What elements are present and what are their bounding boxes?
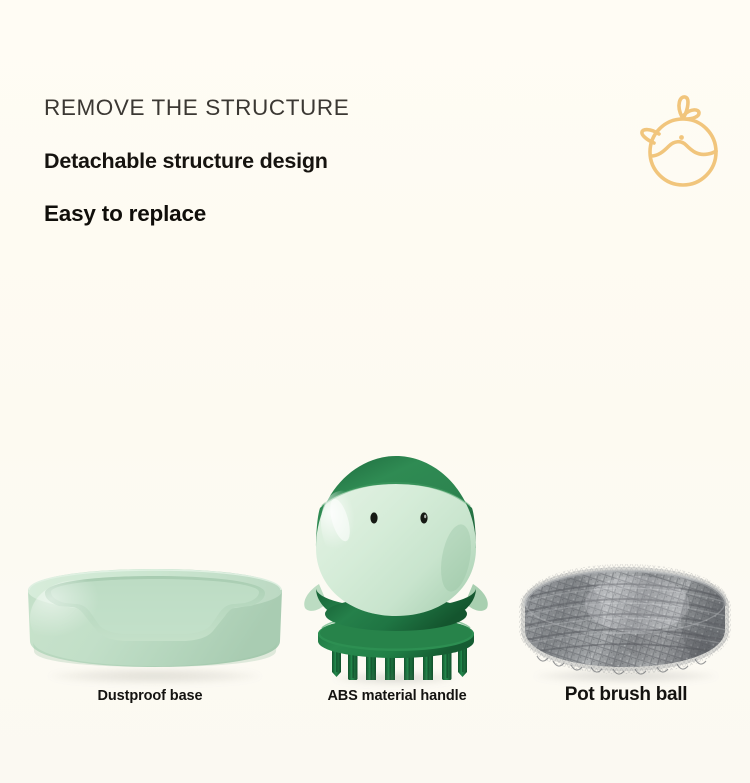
handle-drop-shadow [334, 672, 458, 685]
eye-right [420, 512, 427, 523]
product-dustproof-base [23, 555, 287, 680]
mint-bowl-base-icon [23, 563, 287, 673]
steel-mesh-scrubber-ball-icon [519, 558, 731, 680]
caption-pot-brush-ball: Pot brush ball [520, 684, 732, 706]
headline-primary: Detachable structure design [44, 150, 474, 174]
headline-secondary: Easy to replace [44, 202, 474, 227]
product-parts-row [0, 420, 750, 680]
caption-abs-material-handle: ABS material handle [266, 688, 528, 704]
caption-dustproof-base: Dustproof base [0, 688, 300, 704]
bird-brush-handle-icon [296, 448, 496, 680]
ball-drop-shadow [535, 669, 717, 683]
product-abs-material-handle [296, 448, 496, 680]
headline-block: REMOVE THE STRUCTURE Detachable structur… [44, 96, 474, 227]
product-feature-banner: REMOVE THE STRUCTURE Detachable structur… [0, 0, 750, 783]
kicker-text: REMOVE THE STRUCTURE [44, 96, 474, 121]
eye-left [370, 512, 377, 523]
chick-bird-logo-icon [626, 90, 730, 196]
product-pot-brush-ball [519, 558, 731, 680]
